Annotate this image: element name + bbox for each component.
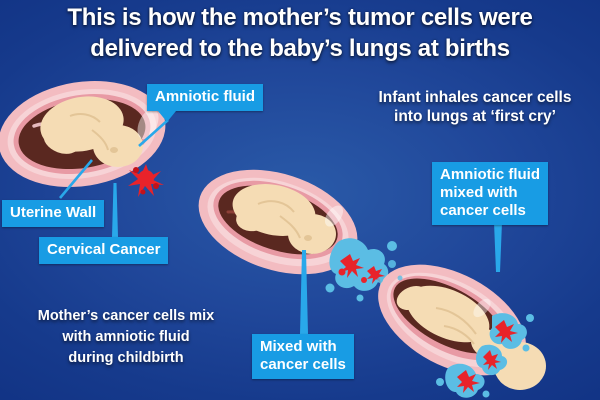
- illustration-baby-emerging-birth: [370, 258, 600, 400]
- title-line-1: This is how the mother’s tumor cells wer…: [0, 2, 600, 33]
- cervical-cancer-cluster: [128, 164, 164, 197]
- caption-mother-cells-mix: Mother’s cancer cells mix with amniotic …: [8, 306, 244, 369]
- fetus-head: [93, 125, 143, 167]
- fetus-ear: [110, 147, 118, 153]
- illustration-fetus-in-womb-fluid-release: [188, 160, 398, 305]
- fetus-ear: [304, 235, 312, 241]
- womb-stage-2-svg: [188, 160, 398, 305]
- label-cervical-cancer: Cervical Cancer: [39, 237, 168, 264]
- fluid-droplet: [388, 260, 396, 268]
- label-uterine-wall: Uterine Wall: [2, 200, 104, 227]
- label-amniotic-fluid-tail: [158, 111, 176, 122]
- title-line-2: delivered to the baby’s lungs at births: [0, 33, 600, 64]
- fluid-droplet: [398, 276, 403, 281]
- page-title: This is how the mother’s tumor cells wer…: [0, 2, 600, 64]
- label-amniotic-fluid: Amniotic fluid: [147, 84, 263, 111]
- caption-infant-inhales: Infant inhales cancer cells into lungs a…: [352, 88, 598, 126]
- womb-stage-3-svg: [370, 258, 600, 400]
- label-mixed-with-cancer-cells: Mixed with cancer cells: [252, 334, 354, 379]
- fluid-droplet: [377, 277, 383, 283]
- infographic-canvas: This is how the mother’s tumor cells wer…: [0, 0, 600, 400]
- label-amniotic-fluid-mixed: Amniotic fluid mixed with cancer cells: [432, 162, 548, 225]
